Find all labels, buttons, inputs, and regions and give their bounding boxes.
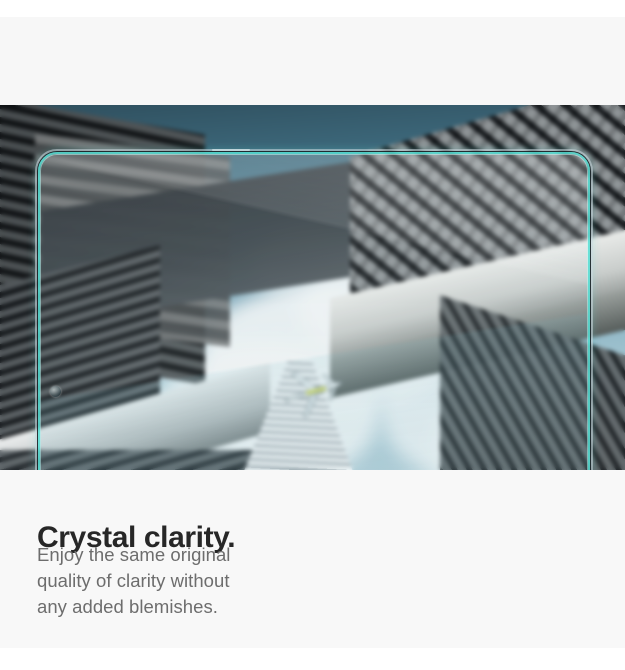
description-line: any added blemishes. [37,594,337,620]
product-feature-slide: Crystal clarity. Enjoy the same original… [0,0,625,670]
top-white-strip [0,0,625,17]
upper-gray-band [0,17,625,105]
description-line: quality of clarity without [37,568,337,594]
product-photo [0,105,625,470]
bottom-white-strip [0,648,625,670]
camera-sensor-cutout-icon [50,386,61,397]
speaker-slot [212,149,250,151]
feature-description: Enjoy the same original quality of clari… [37,542,337,620]
screen-protector-glass [38,152,590,470]
description-line: Enjoy the same original [37,542,337,568]
glass-reflection [40,154,588,470]
